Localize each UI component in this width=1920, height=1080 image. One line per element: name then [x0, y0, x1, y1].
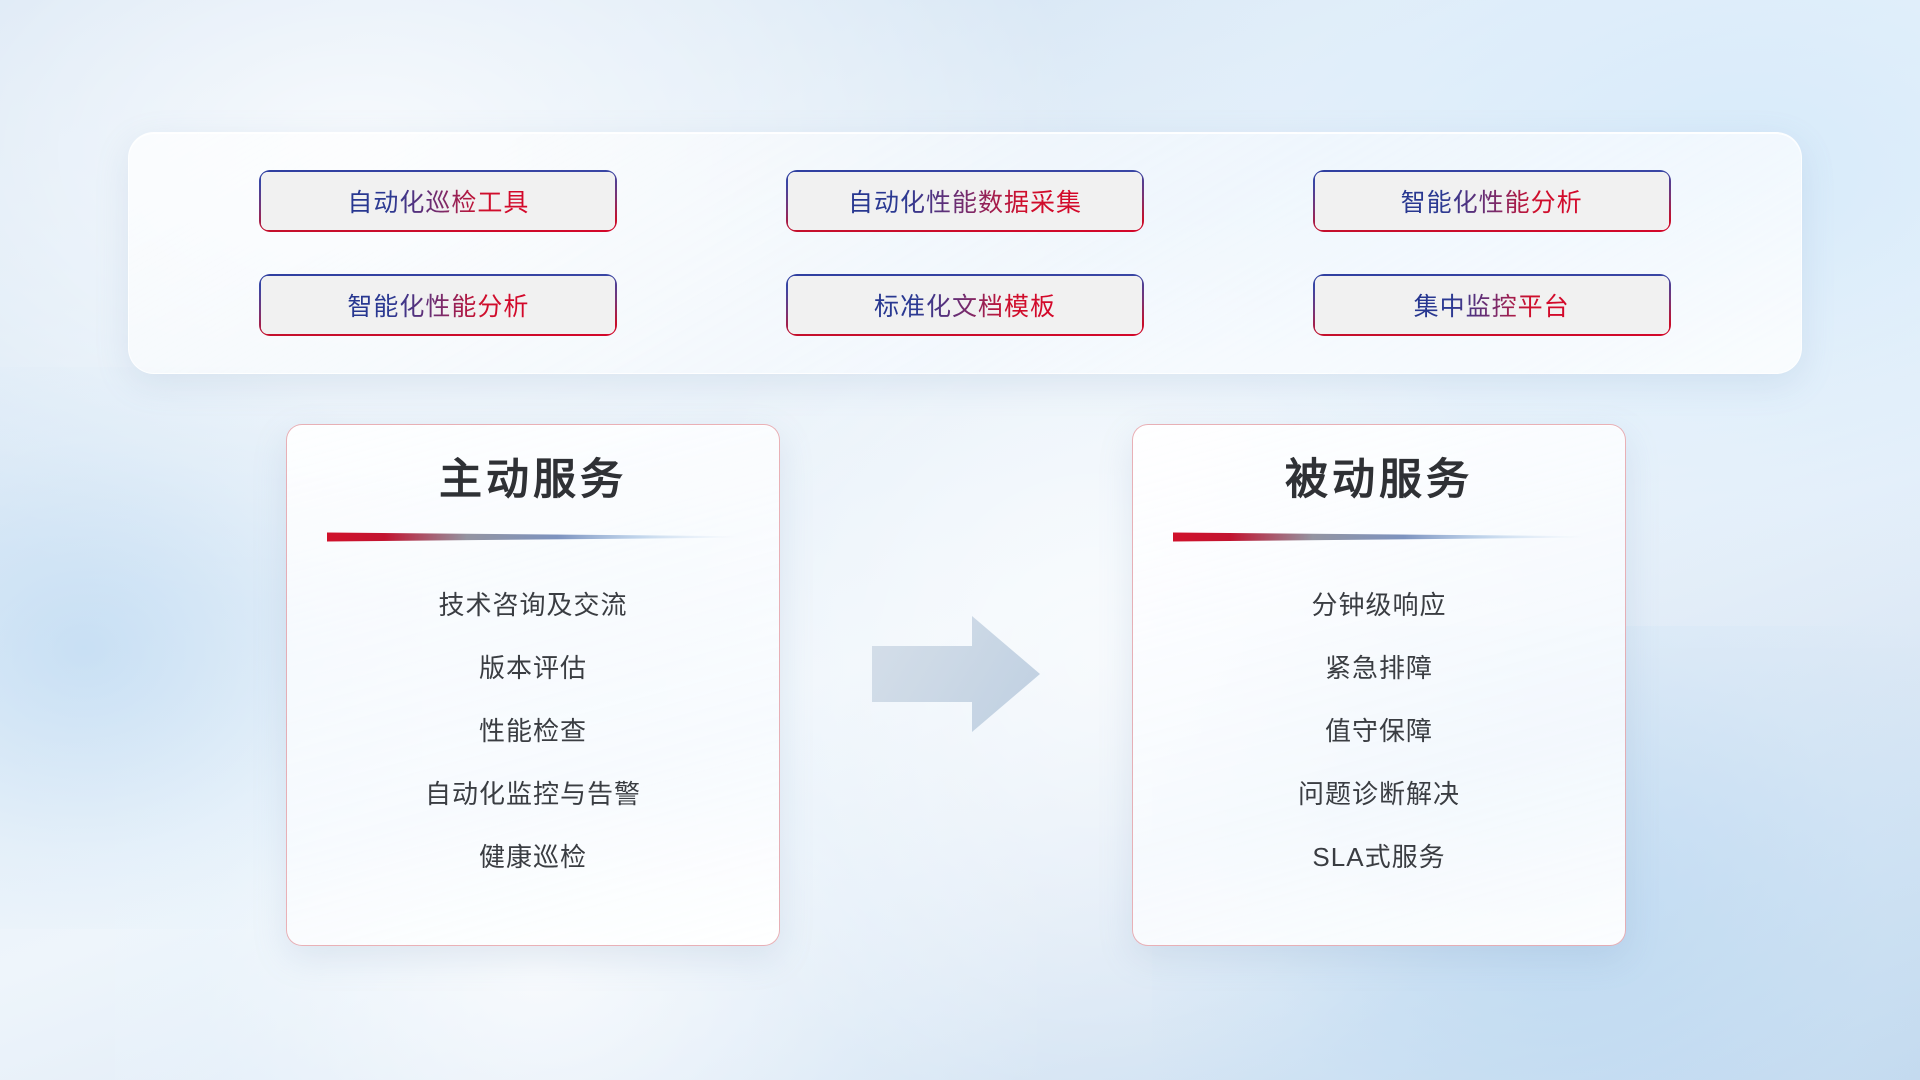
service-card-proactive: 主动服务 技术咨询及交流 版本评估 性能检查 自动化监控与告警 健康巡检: [286, 424, 780, 946]
capability-pill-automated-inspection-tool[interactable]: 自动化巡检工具: [259, 170, 617, 232]
list-item: 问题诊断解决: [1173, 779, 1585, 810]
list-item: 值守保障: [1173, 716, 1585, 747]
list-item: 性能检查: [327, 716, 739, 747]
capability-pill-automated-performance-data-collection[interactable]: 自动化性能数据采集: [786, 170, 1144, 232]
arrow-right-icon: [868, 612, 1044, 736]
capability-pill-standardized-document-template[interactable]: 标准化文档模板: [786, 274, 1144, 336]
capability-pill-label: 智能化性能分析: [1401, 183, 1583, 219]
capability-pill-label: 标准化文档模板: [874, 287, 1056, 323]
service-card-item-list: 分钟级响应 紧急排障 值守保障 问题诊断解决 SLA式服务: [1173, 550, 1585, 915]
capability-panel: 自动化巡检工具 自动化性能数据采集 智能化性能分析 智能化性能分析 标准化文档模…: [128, 132, 1802, 374]
capability-pill-label: 智能化性能分析: [347, 287, 529, 323]
service-card-title: 主动服务: [327, 455, 739, 506]
list-item: SLA式服务: [1173, 842, 1585, 873]
card-divider: [327, 530, 739, 544]
capability-pill-centralized-monitoring-platform[interactable]: 集中监控平台: [1313, 274, 1671, 336]
card-divider: [1173, 530, 1585, 544]
capability-pill-label: 自动化性能数据采集: [848, 183, 1082, 219]
service-card-item-list: 技术咨询及交流 版本评估 性能检查 自动化监控与告警 健康巡检: [327, 550, 739, 915]
service-card-reactive: 被动服务 分钟级响应 紧急排障 值守保障 问题诊断解决 SLA式服务: [1132, 424, 1626, 946]
list-item: 分钟级响应: [1173, 590, 1585, 621]
service-card-title: 被动服务: [1173, 455, 1585, 506]
capability-pill-intelligent-performance-analysis-top[interactable]: 智能化性能分析: [1313, 170, 1671, 232]
capability-pill-label: 集中监控平台: [1414, 287, 1570, 323]
list-item: 技术咨询及交流: [327, 590, 739, 621]
capability-pill-intelligent-performance-analysis-bottom[interactable]: 智能化性能分析: [259, 274, 617, 336]
list-item: 紧急排障: [1173, 653, 1585, 684]
list-item: 版本评估: [327, 653, 739, 684]
capability-pill-label: 自动化巡检工具: [347, 183, 529, 219]
capability-pill-grid: 自动化巡检工具 自动化性能数据采集 智能化性能分析 智能化性能分析 标准化文档模…: [129, 133, 1801, 373]
list-item: 健康巡检: [327, 842, 739, 873]
list-item: 自动化监控与告警: [327, 779, 739, 810]
